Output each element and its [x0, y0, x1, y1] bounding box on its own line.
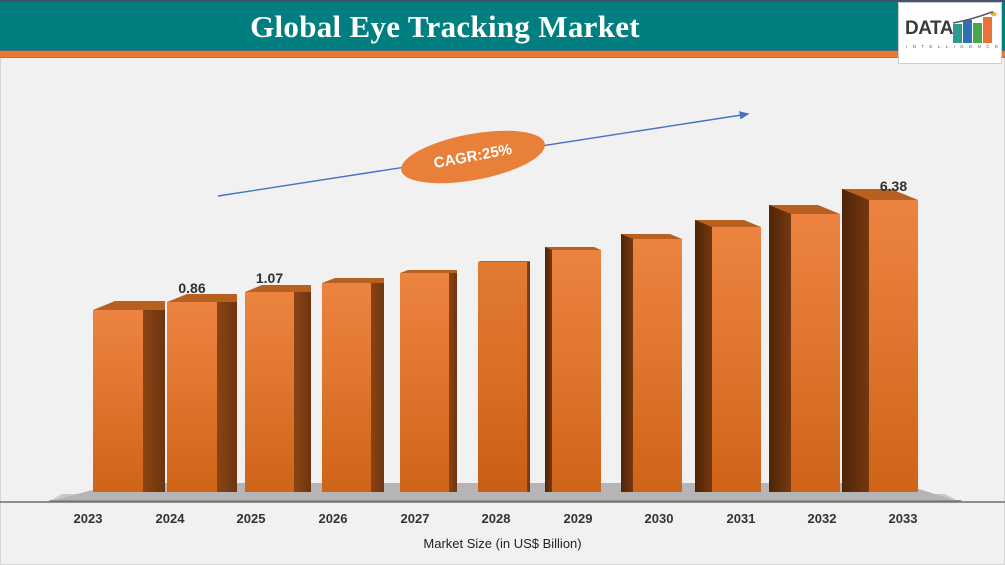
bar-value-label-2025: 1.07	[233, 270, 306, 286]
bar-side-face	[371, 278, 384, 492]
bar-2033	[869, 200, 918, 492]
bar-front-face	[167, 302, 217, 492]
bar-2028	[478, 262, 527, 492]
bar-2029	[552, 250, 601, 492]
x-tick-2025: 2025	[221, 511, 281, 526]
bar-side-face	[294, 285, 311, 492]
bar-top-face	[322, 278, 384, 283]
bar-front-face	[478, 262, 527, 492]
bar-front-face	[633, 239, 682, 492]
bar-2030	[633, 239, 682, 492]
bars-layer: 0.861.076.38	[0, 0, 1005, 565]
bar-top-face	[400, 270, 457, 273]
bar-2031	[712, 227, 761, 492]
bar-side-face	[842, 189, 869, 492]
bar-value-label-2024: 0.86	[155, 280, 229, 296]
bar-2026	[322, 283, 371, 492]
x-tick-2033: 2033	[873, 511, 933, 526]
bar-front-face	[552, 250, 601, 492]
bar-front-face	[712, 227, 761, 492]
bar-front-face	[791, 214, 840, 492]
bar-side-face	[695, 220, 712, 492]
x-tick-2032: 2032	[792, 511, 852, 526]
x-tick-2023: 2023	[58, 511, 118, 526]
bar-side-face	[527, 261, 530, 492]
bar-top-face	[478, 261, 530, 262]
bar-side-face	[449, 270, 457, 492]
bar-top-face	[93, 301, 165, 310]
x-tick-2026: 2026	[303, 511, 363, 526]
bar-side-face	[217, 294, 237, 492]
x-tick-2024: 2024	[140, 511, 200, 526]
logo-tagline: I N T E L L I G E N C E	[906, 44, 1000, 49]
bar-front-face	[400, 273, 449, 492]
x-axis-title: Market Size (in US$ Billion)	[0, 536, 1005, 551]
bar-2027	[400, 273, 449, 492]
bar-2032	[791, 214, 840, 492]
bar-top-face	[545, 247, 601, 250]
bar-side-face	[545, 247, 552, 492]
bar-value-label-2033: 6.38	[857, 178, 930, 194]
bar-2024	[167, 302, 217, 492]
x-tick-2028: 2028	[466, 511, 526, 526]
page-title: Global Eye Tracking Market	[0, 2, 890, 52]
bar-side-face	[143, 301, 165, 492]
bar-front-face	[869, 200, 918, 492]
x-tick-2027: 2027	[385, 511, 445, 526]
bar-2023	[93, 310, 143, 492]
chart-poster: 0.861.076.38 202320242025202620272028202…	[0, 0, 1005, 565]
bar-2025	[245, 292, 294, 492]
brand-logo[interactable]: DATA I N T E L L I G E N C E	[898, 2, 1002, 64]
bar-side-face	[621, 234, 633, 492]
x-tick-2030: 2030	[629, 511, 689, 526]
header-accent-strip	[0, 50, 1005, 58]
bar-side-face	[769, 205, 791, 492]
header-band: Global Eye Tracking Market	[0, 0, 1005, 50]
logo-bar-chart-icon	[952, 11, 998, 43]
bar-top-face	[245, 285, 311, 292]
bar-front-face	[322, 283, 371, 492]
x-tick-2029: 2029	[548, 511, 608, 526]
bar-front-face	[93, 310, 143, 492]
logo-wordmark: DATA	[905, 19, 953, 38]
bar-front-face	[245, 292, 294, 492]
x-tick-2031: 2031	[711, 511, 771, 526]
